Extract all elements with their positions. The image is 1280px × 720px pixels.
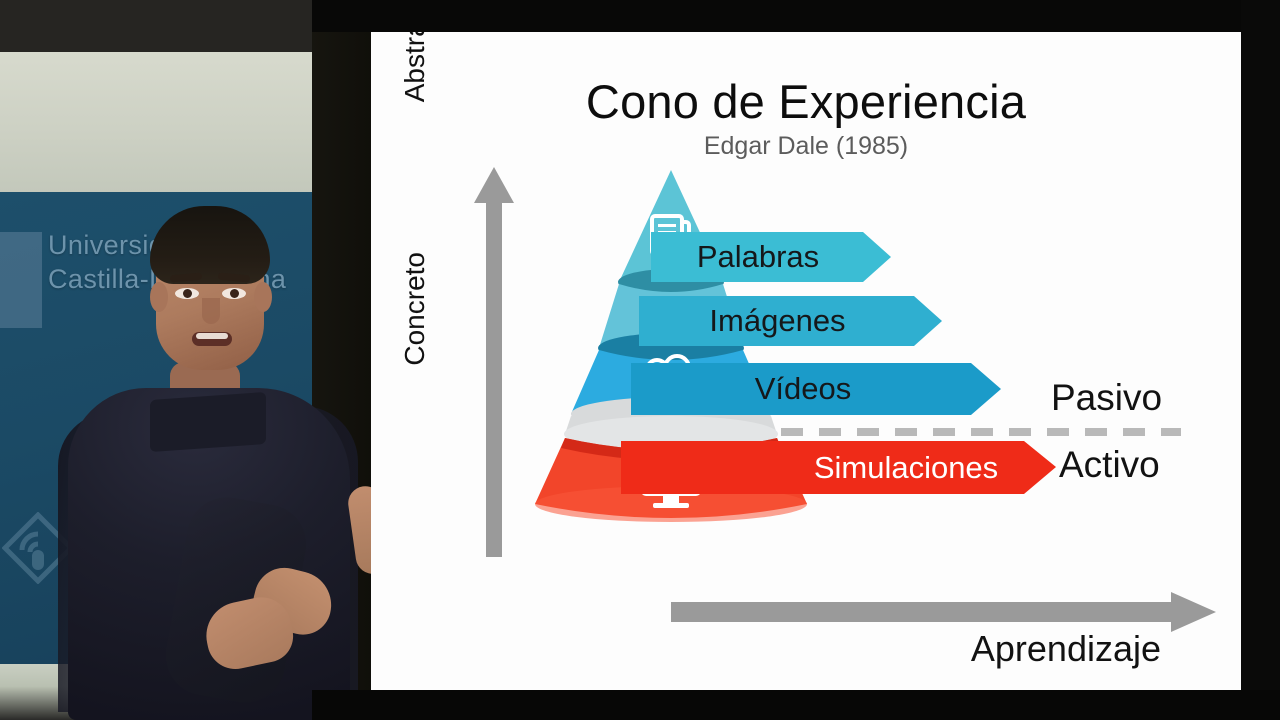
video-bezel-bottom (312, 690, 1280, 720)
horizontal-axis-arrow (671, 592, 1216, 632)
presenter-hair (150, 206, 270, 284)
video-bezel-top (312, 0, 1280, 32)
cone-banner-label: Vídeos (631, 371, 1001, 407)
video-bezel-right (1241, 0, 1280, 720)
cone-banner-label: Palabras (651, 239, 891, 275)
cone-banner-simulaciones[interactable]: Simulaciones (621, 441, 1056, 494)
axis-label-concreto: Concreto (399, 252, 429, 422)
mode-label-pasivo: Pasivo (1051, 377, 1162, 419)
axis-label-aprendizaje: Aprendizaje (371, 628, 1161, 670)
university-logo-block (0, 232, 42, 328)
dashed-divider-icon (781, 428, 1181, 436)
presenter-collar (150, 392, 266, 452)
presenter-nose (202, 298, 220, 324)
cone-banner-palabras[interactable]: Palabras (651, 232, 891, 282)
mode-label-activo: Activo (1059, 444, 1160, 486)
slide-title: Cono de Experiencia (371, 74, 1241, 129)
presenter-ear-left (150, 282, 168, 312)
presenter-pupil-right (230, 289, 239, 298)
vertical-axis-arrow (474, 167, 514, 557)
slide-subtitle: Edgar Dale (1985) (371, 132, 1241, 161)
presenter (58, 200, 358, 720)
presenter-pupil-left (183, 289, 192, 298)
studio-top-wall (0, 0, 312, 52)
cone-banner-videos[interactable]: Vídeos (631, 363, 1001, 415)
cone-banner-imagenes[interactable]: Imágenes (639, 296, 942, 346)
cone-banner-label: Simulaciones (621, 450, 1056, 486)
slide-panel: Cono de Experiencia Edgar Dale (1985) Ab… (371, 32, 1241, 690)
cone-banner-label: Imágenes (639, 303, 942, 339)
presenter-ear-right (254, 282, 272, 312)
video-scene: Universidad Castilla-La Mancha (0, 0, 372, 720)
screen: Universidad Castilla-La Mancha (0, 0, 1280, 720)
studio-beige-wall (0, 52, 312, 192)
presenter-teeth (196, 333, 228, 339)
